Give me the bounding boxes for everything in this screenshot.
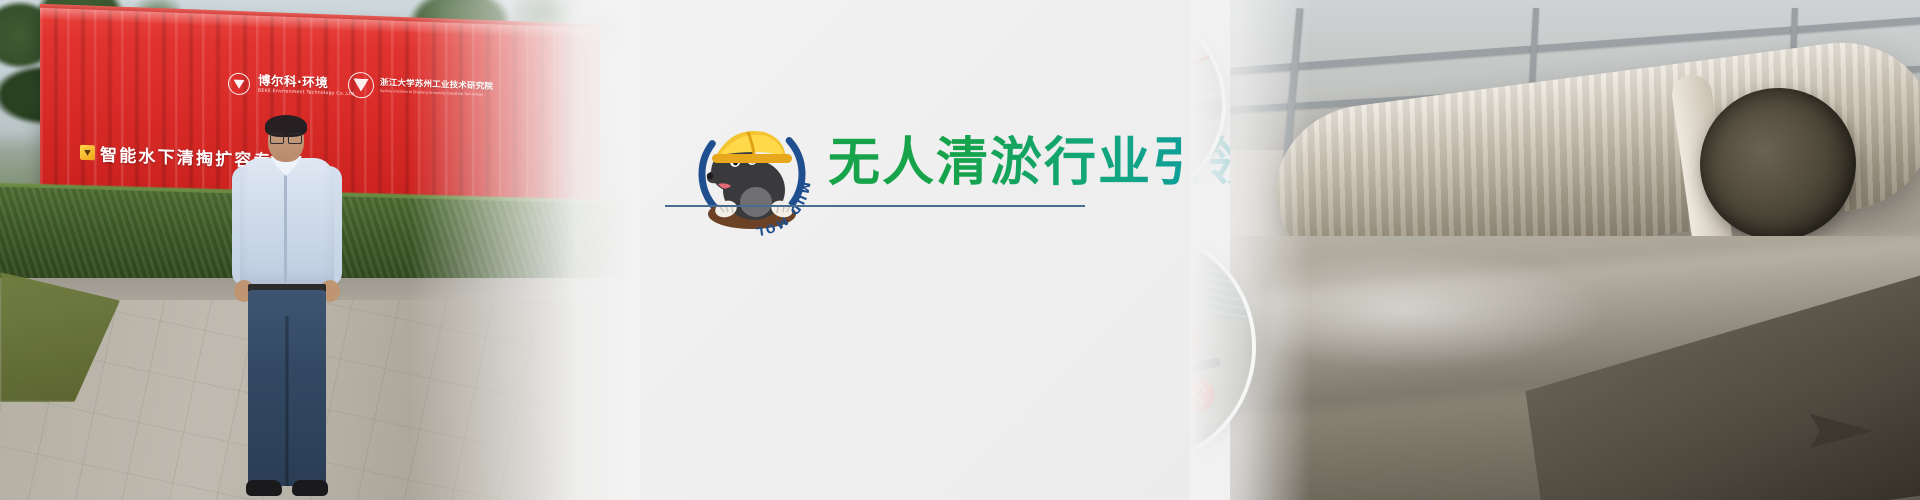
mud-mole-logo: MUD MOLE — [690, 108, 820, 236]
university-seal-icon — [348, 72, 374, 99]
light-blue-shirt — [240, 158, 334, 288]
shirt-placket — [284, 170, 287, 282]
headline-divider — [665, 205, 1085, 207]
foam-splash — [1270, 250, 1610, 370]
slogan-badge-icon — [80, 144, 95, 160]
beke-mark-icon — [228, 72, 250, 95]
eyeglasses-icon — [270, 133, 302, 142]
right-photo-group — [1190, 0, 1920, 500]
technician-circle-photo — [1190, 6, 1226, 202]
brand-text-block: 博尔科·环境 BEKE Environment Technology Co.,L… — [258, 75, 356, 98]
right-shoe — [292, 480, 328, 496]
left-shoe — [246, 480, 282, 496]
container-brand-en: BEKE Environment Technology Co.,Ltd. — [258, 90, 356, 98]
dredging-robot-circle-photo — [1190, 228, 1256, 466]
canal-water — [1190, 232, 1252, 319]
basin-deck — [1190, 119, 1222, 198]
hero-banner: 博尔科·环境 BEKE Environment Technology Co.,L… — [0, 0, 1920, 500]
center-content: MUD MOLE 无人清淤行业引领者 — [540, 0, 1200, 500]
sludge-pipe-photo — [1230, 0, 1920, 500]
engineer-figure — [232, 118, 342, 500]
jeans — [248, 290, 326, 486]
